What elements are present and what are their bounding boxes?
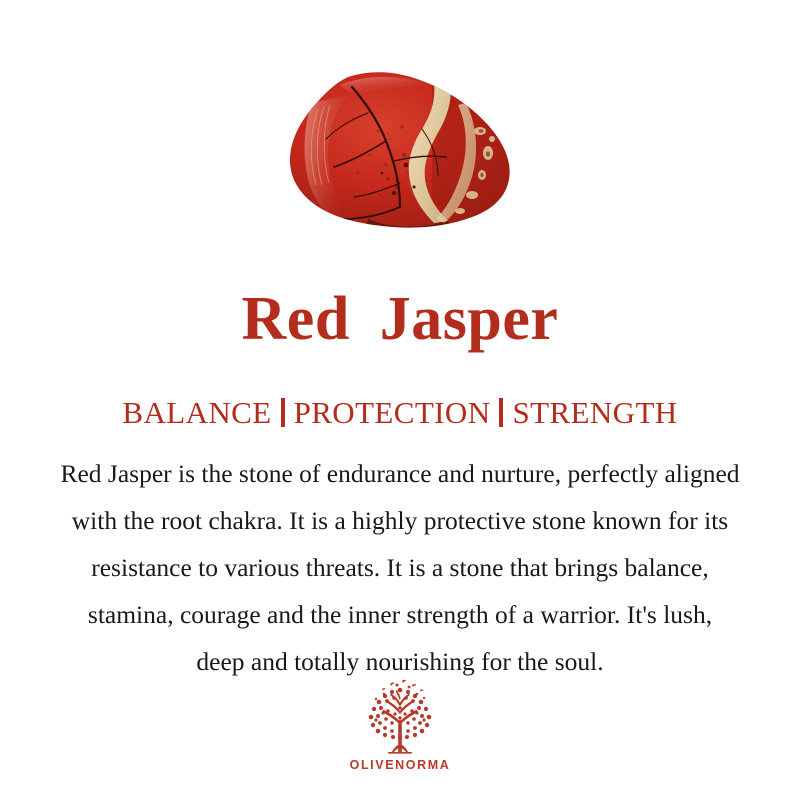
keyword-protection: PROTECTION bbox=[294, 395, 491, 430]
description-line: resistance to various threats. It is a s… bbox=[14, 544, 786, 591]
description-text: Red Jasper is the stone of endurance and… bbox=[14, 450, 786, 685]
tree-of-life-icon bbox=[354, 678, 446, 756]
page-title: Red Jasper bbox=[0, 287, 800, 352]
description-line: stamina, courage and the inner strength … bbox=[14, 591, 786, 638]
keyword-separator bbox=[499, 398, 503, 427]
red-jasper-stone-image bbox=[282, 69, 518, 237]
brand-wordmark: OLIVENORMA bbox=[350, 758, 451, 772]
keyword-strength: STRENGTH bbox=[512, 395, 677, 430]
keyword-separator bbox=[281, 398, 285, 427]
description-line: with the root chakra. It is a highly pro… bbox=[14, 497, 786, 544]
keyword-balance: BALANCE bbox=[122, 395, 271, 430]
product-info-card: Red Jasper BALANCEPROTECTIONSTRENGTH Red… bbox=[0, 0, 800, 800]
brand-logo: OLIVENORMA bbox=[0, 678, 800, 772]
keyword-line: BALANCEPROTECTIONSTRENGTH bbox=[0, 396, 800, 430]
hero-image-area bbox=[0, 58, 800, 248]
description-line: Red Jasper is the stone of endurance and… bbox=[14, 450, 786, 497]
red-jasper-stone-illustration bbox=[282, 69, 518, 237]
